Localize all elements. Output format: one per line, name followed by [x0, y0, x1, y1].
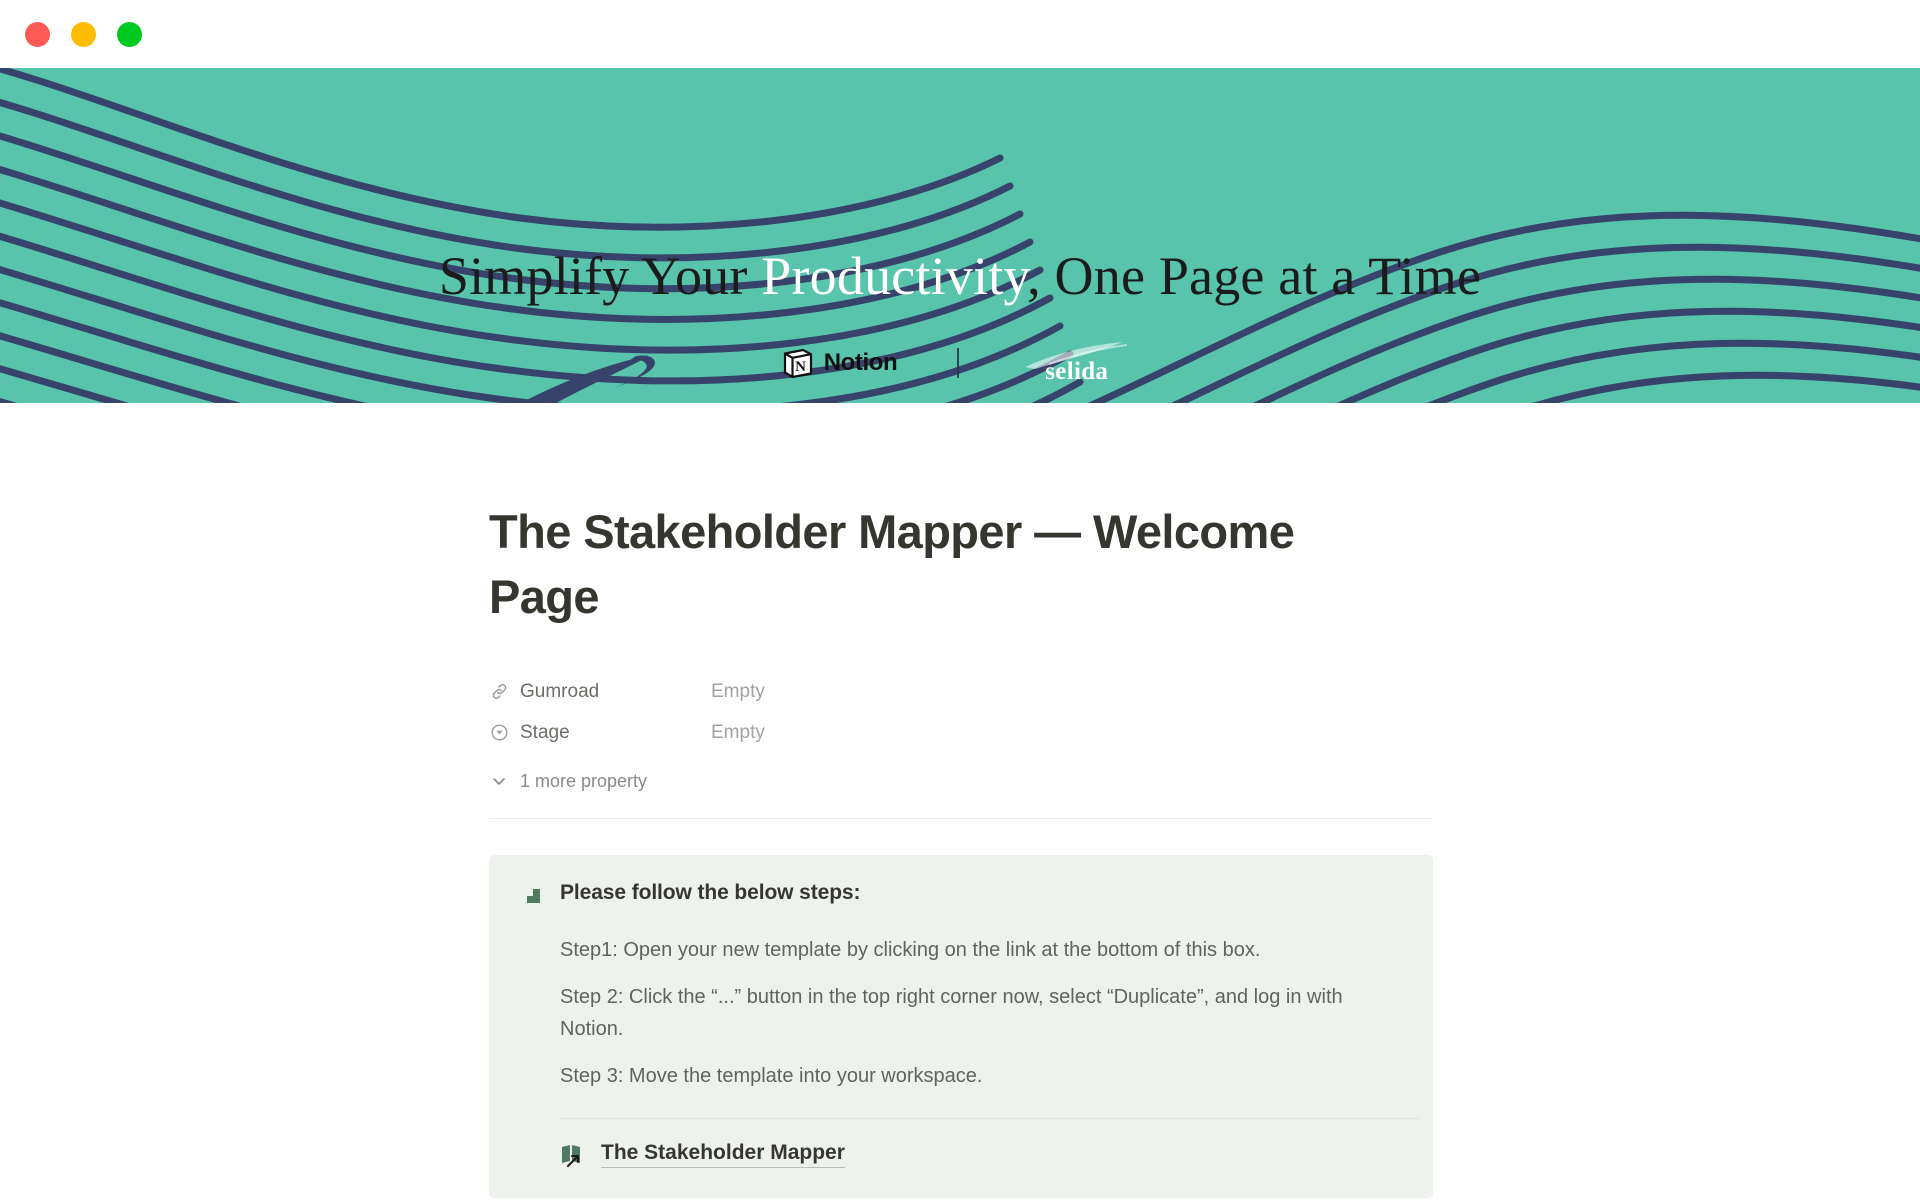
headline-prefix: Simplify Your [439, 246, 761, 306]
headline-accent: Productivity [761, 246, 1027, 306]
property-name-gumroad: Gumroad [520, 681, 599, 703]
step-item-1: Step1: Open your new template by clickin… [560, 934, 1403, 966]
step-item-2: Step 2: Click the “...” button in the to… [560, 981, 1403, 1045]
brand-logo-row: N Notion selida [0, 340, 1920, 386]
property-label-stage: Stage [489, 722, 711, 744]
more-properties-label: 1 more property [520, 771, 647, 792]
page-content: The Stakeholder Mapper — Welcome Page Gu… [489, 499, 1433, 1198]
notion-label: Notion [824, 349, 898, 377]
steps-callout: Please follow the below steps: Step1: Op… [489, 855, 1433, 1198]
property-label-gumroad: Gumroad [489, 681, 711, 703]
maximize-window-button[interactable] [117, 22, 142, 47]
open-book-link-icon [560, 1142, 585, 1167]
content-divider [489, 818, 1433, 819]
hero-headline: Simplify Your Productivity, One Page at … [0, 246, 1920, 306]
notion-brand: N Notion [781, 346, 898, 380]
close-window-button[interactable] [25, 22, 50, 47]
window-titlebar [0, 0, 1920, 68]
steps-list: Step1: Open your new template by clickin… [519, 934, 1403, 1092]
brand-divider [957, 348, 959, 378]
property-value-gumroad[interactable]: Empty [711, 681, 765, 703]
hero-banner: Simplify Your Productivity, One Page at … [0, 68, 1920, 403]
page-properties: Gumroad Empty Stage Empty [489, 671, 1433, 798]
page-body: The Stakeholder Mapper — Welcome Page Gu… [0, 403, 1920, 1200]
template-link-row[interactable]: The Stakeholder Mapper [560, 1141, 1403, 1168]
open-book-glyph [560, 1142, 585, 1167]
select-icon [489, 722, 510, 743]
link-icon [489, 681, 510, 702]
selida-brand-small: selida [1019, 340, 1139, 386]
callout-divider [560, 1118, 1420, 1119]
property-name-stage: Stage [520, 722, 570, 744]
callout-title: Please follow the below steps: [560, 881, 860, 905]
svg-text:N: N [795, 359, 806, 375]
stairs-glyph [519, 885, 542, 906]
selida-label-small: selida [1045, 358, 1108, 386]
more-properties-toggle[interactable]: 1 more property [489, 764, 1433, 798]
property-value-stage[interactable]: Empty [711, 722, 765, 744]
step-item-3: Step 3: Move the template into your work… [560, 1060, 1403, 1092]
chevron-down-icon [489, 771, 509, 791]
page-title: The Stakeholder Mapper — Welcome Page [489, 499, 1399, 629]
window-controls [25, 22, 142, 47]
notion-cube-icon: N [781, 346, 815, 380]
callout-header: Please follow the below steps: [519, 881, 1403, 906]
property-row-stage[interactable]: Stage Empty [489, 712, 1433, 753]
headline-suffix: , One Page at a Time [1027, 246, 1481, 306]
stairs-icon [519, 885, 542, 906]
property-row-gumroad[interactable]: Gumroad Empty [489, 671, 1433, 712]
minimize-window-button[interactable] [71, 22, 96, 47]
template-link-label[interactable]: The Stakeholder Mapper [601, 1141, 845, 1168]
